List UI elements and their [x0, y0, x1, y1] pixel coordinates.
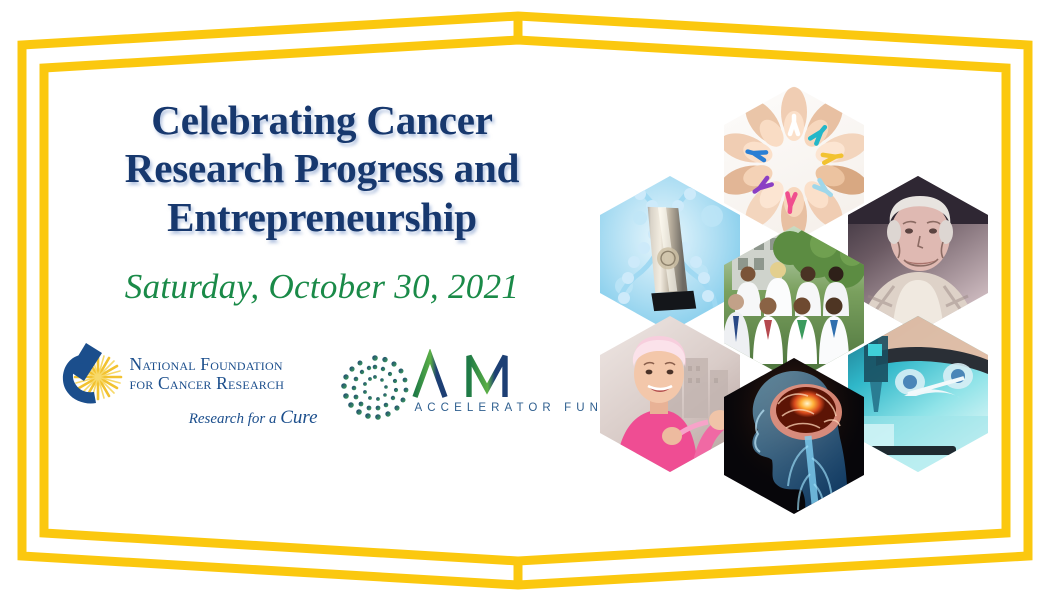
hexagon-photo-collage — [596, 84, 1016, 514]
logo-row: National Foundation for Cancer Research … — [50, 333, 595, 445]
hexagon-survivor-pink — [600, 316, 740, 472]
aimhi-logo: ACCELERATOR FUND — [337, 347, 595, 439]
nfcr-tagline: Research for a Cure — [189, 407, 318, 429]
title-line-3: Entrepreneurship — [62, 193, 582, 241]
nfcr-wordmark: National Foundation for Cancer Research — [130, 355, 285, 392]
title-line-2: Research Progress and — [62, 144, 582, 192]
nfcr-logo: National Foundation for Cancer Research … — [58, 333, 320, 445]
event-date: Saturday, October 30, 2021 — [125, 267, 519, 307]
event-info-panel: Celebrating Cancer Research Progress and… — [52, 96, 592, 536]
microscope-starburst-icon — [58, 335, 130, 411]
aimhi-subtitle: ACCELERATOR FUND — [415, 402, 617, 414]
hexagon-award-trophy-dna — [600, 176, 740, 332]
spiral-dots-icon — [337, 351, 413, 427]
title-line-1: Celebrating Cancer — [62, 96, 582, 144]
nfcr-line-1: National Foundation — [130, 355, 285, 374]
nfcr-line-2: for Cancer Research — [130, 374, 285, 393]
hexagon-microscope-eyes — [848, 314, 988, 472]
nfcr-tagline-prefix: Research for a — [189, 411, 281, 427]
page-title: Celebrating Cancer Research Progress and… — [62, 96, 582, 241]
aimhi-wordmark — [411, 349, 597, 405]
nfcr-tagline-word: Cure — [280, 407, 317, 428]
hexagon-elderly-man — [848, 176, 988, 332]
hexagon-brain-scan — [724, 358, 864, 514]
